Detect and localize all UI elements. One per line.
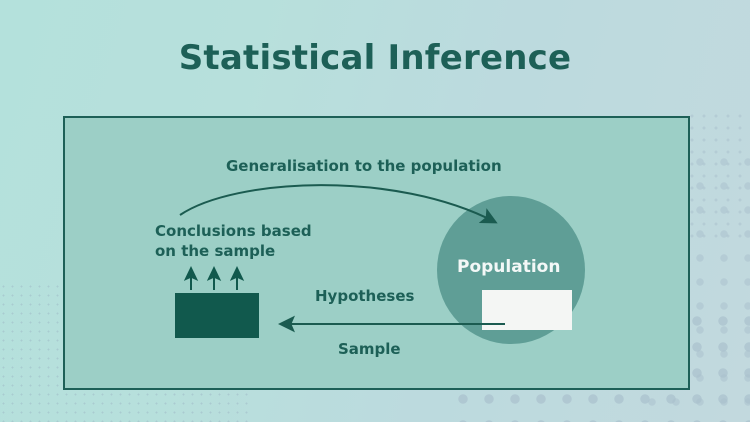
sample-label: Sample — [338, 340, 401, 358]
decorative-dots-upper-right — [686, 110, 750, 240]
conclusions-label: Conclusions based on the sample — [155, 221, 335, 261]
hypotheses-label: Hypotheses — [315, 287, 414, 305]
page-title: Statistical Inference — [0, 38, 750, 78]
generalisation-label: Generalisation to the population — [226, 157, 502, 175]
diagram-panel: Population Gen — [63, 116, 690, 390]
slide-canvas: Statistical Inference Population — [0, 0, 750, 422]
generalisation-arrow — [180, 185, 495, 222]
